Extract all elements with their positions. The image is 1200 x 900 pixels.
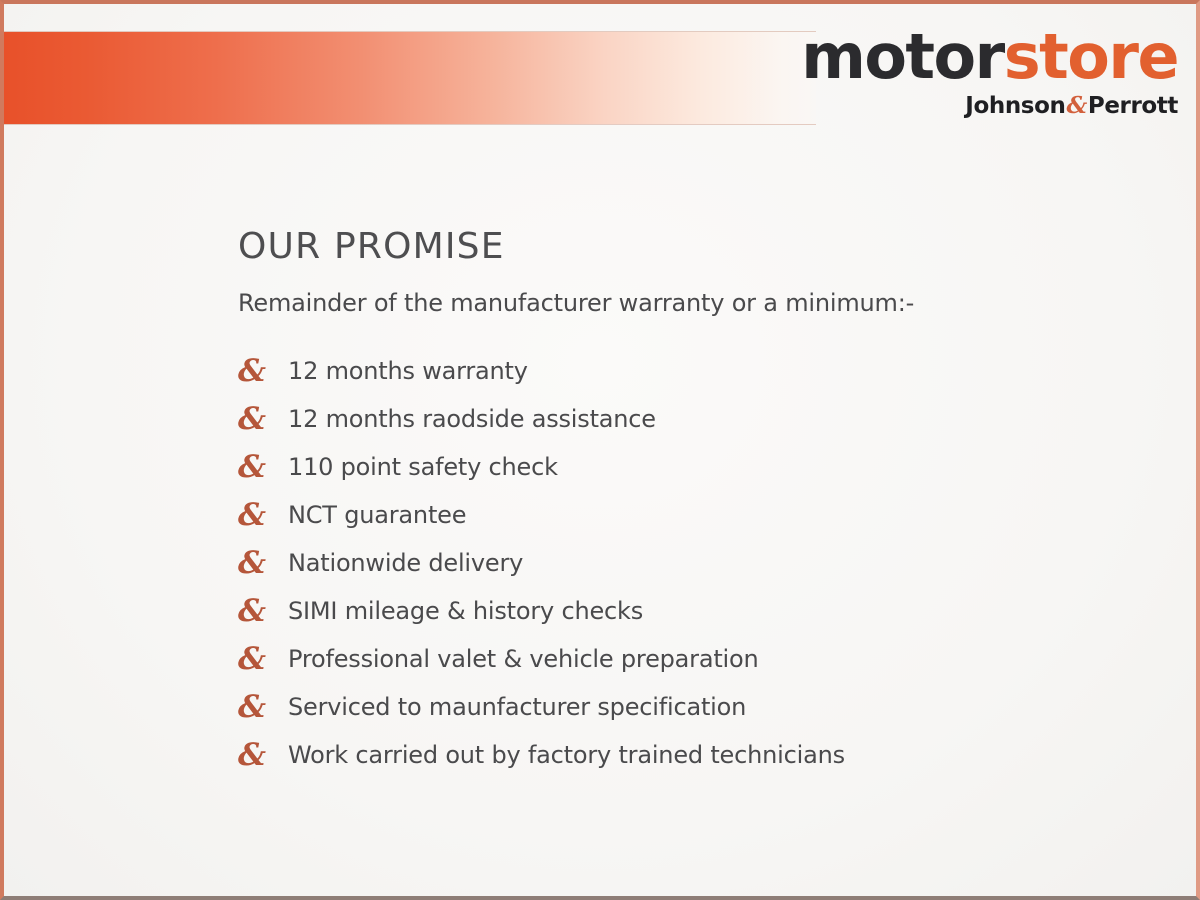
ampersand-bullet-icon: & — [238, 692, 272, 723]
list-item-label: NCT guarantee — [288, 501, 466, 529]
brand-logo: motorstore Johnson&Perrott — [801, 26, 1178, 118]
logo-store-text: store — [1004, 20, 1178, 93]
ampersand-bullet-icon: & — [238, 644, 272, 675]
promise-content: OUR PROMISE Remainder of the manufacture… — [238, 226, 1140, 779]
list-item-label: SIMI mileage & history checks — [288, 597, 643, 625]
list-item-label: Work carried out by factory trained tech… — [288, 741, 845, 769]
logo-subtitle: Johnson&Perrott — [801, 94, 1178, 118]
list-item-label: 110 point safety check — [288, 453, 558, 481]
logo-sub-johnson: Johnson — [965, 93, 1065, 119]
logo-wordmark: motorstore — [801, 26, 1178, 88]
ampersand-bullet-icon: & — [238, 596, 272, 627]
ampersand-bullet-icon: & — [238, 500, 272, 531]
ampersand-bullet-icon: & — [238, 740, 272, 771]
orange-gradient-bar — [4, 32, 816, 124]
ampersand-bullet-icon: & — [238, 452, 272, 483]
ampersand-bullet-icon: & — [238, 404, 272, 435]
promise-subtitle: Remainder of the manufacturer warranty o… — [238, 289, 1140, 317]
list-item: & Professional valet & vehicle preparati… — [238, 635, 1140, 683]
list-item-label: 12 months raodside assistance — [288, 405, 656, 433]
list-item: & Nationwide delivery — [238, 539, 1140, 587]
list-item-label: 12 months warranty — [288, 357, 528, 385]
promise-slide: motorstore Johnson&Perrott OUR PROMISE R… — [0, 0, 1200, 900]
logo-sub-perrott: Perrott — [1088, 93, 1178, 119]
logo-motor-text: motor — [801, 20, 1004, 93]
list-item-label: Serviced to maunfacturer specification — [288, 693, 746, 721]
list-item: & 110 point safety check — [238, 443, 1140, 491]
list-item: & Work carried out by factory trained te… — [238, 731, 1140, 779]
header-band: motorstore Johnson&Perrott — [4, 4, 1196, 130]
list-item: & SIMI mileage & history checks — [238, 587, 1140, 635]
list-item: & 12 months warranty — [238, 347, 1140, 395]
promise-list: & 12 months warranty & 12 months raodsid… — [238, 347, 1140, 779]
ampersand-bullet-icon: & — [238, 548, 272, 579]
ampersand-icon: & — [1065, 92, 1087, 119]
list-item: & NCT guarantee — [238, 491, 1140, 539]
list-item-label: Professional valet & vehicle preparation — [288, 645, 759, 673]
list-item: & Serviced to maunfacturer specification — [238, 683, 1140, 731]
ampersand-bullet-icon: & — [238, 356, 272, 387]
list-item-label: Nationwide delivery — [288, 549, 523, 577]
list-item: & 12 months raodside assistance — [238, 395, 1140, 443]
page-title: OUR PROMISE — [238, 226, 1140, 267]
